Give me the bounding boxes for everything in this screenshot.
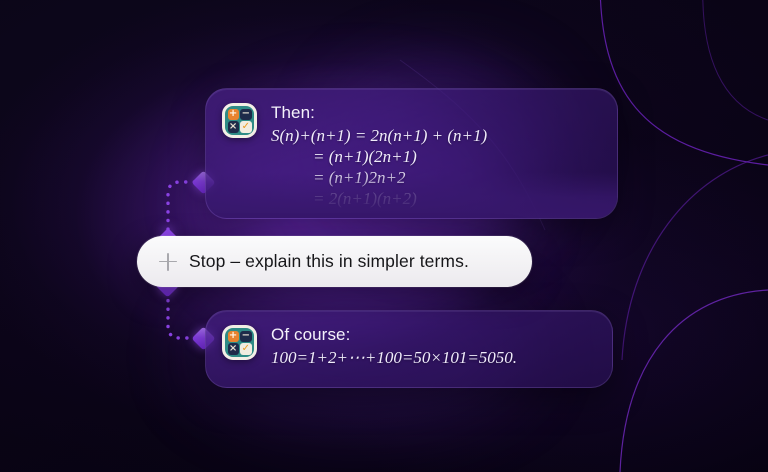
plus-icon[interactable]	[159, 253, 177, 271]
icon-glyph-times: ×	[228, 343, 239, 354]
icon-glyph-minus: −	[240, 331, 251, 342]
composer-input-value[interactable]: Stop – explain this in simpler terms.	[189, 251, 469, 272]
icon-glyph-plus: +	[228, 109, 239, 120]
message-title: Of course:	[271, 325, 596, 345]
math-line-1: 100=1+2+⋯+100=50×101=5050.	[271, 347, 596, 368]
composer-input[interactable]: Stop – explain this in simpler terms.	[137, 236, 532, 287]
math-line-4: = 2(n+1)(n+2)	[271, 188, 601, 209]
calculator-app-icon: + − × ✓	[222, 325, 257, 360]
screen-canvas: + − × ✓ Then: S(n)+(n+1) = 2n(n+1) + (n+…	[0, 0, 768, 472]
icon-glyph-minus: −	[240, 109, 251, 120]
icon-glyph-plus: +	[228, 331, 239, 342]
calculator-app-icon: + − × ✓	[222, 103, 257, 138]
message-body: Of course: 100=1+2+⋯+100=50×101=5050.	[271, 325, 596, 387]
message-body: Then: S(n)+(n+1) = 2n(n+1) + (n+1) = (n+…	[271, 103, 601, 218]
icon-glyph-times: ×	[228, 121, 239, 132]
message-bubble-assistant-ofcourse[interactable]: + − × ✓ Of course: 100=1+2+⋯+100=50×101=…	[205, 310, 613, 388]
icon-glyph-check: ✓	[240, 121, 251, 132]
message-title: Then:	[271, 103, 601, 123]
math-line-3: = (n+1)2n+2	[271, 167, 601, 188]
math-line-1: S(n)+(n+1) = 2n(n+1) + (n+1)	[271, 125, 601, 146]
icon-glyph-check: ✓	[240, 343, 251, 354]
message-bubble-assistant-then[interactable]: + − × ✓ Then: S(n)+(n+1) = 2n(n+1) + (n+…	[205, 88, 618, 219]
math-line-2: = (n+1)(2n+1)	[271, 146, 601, 167]
